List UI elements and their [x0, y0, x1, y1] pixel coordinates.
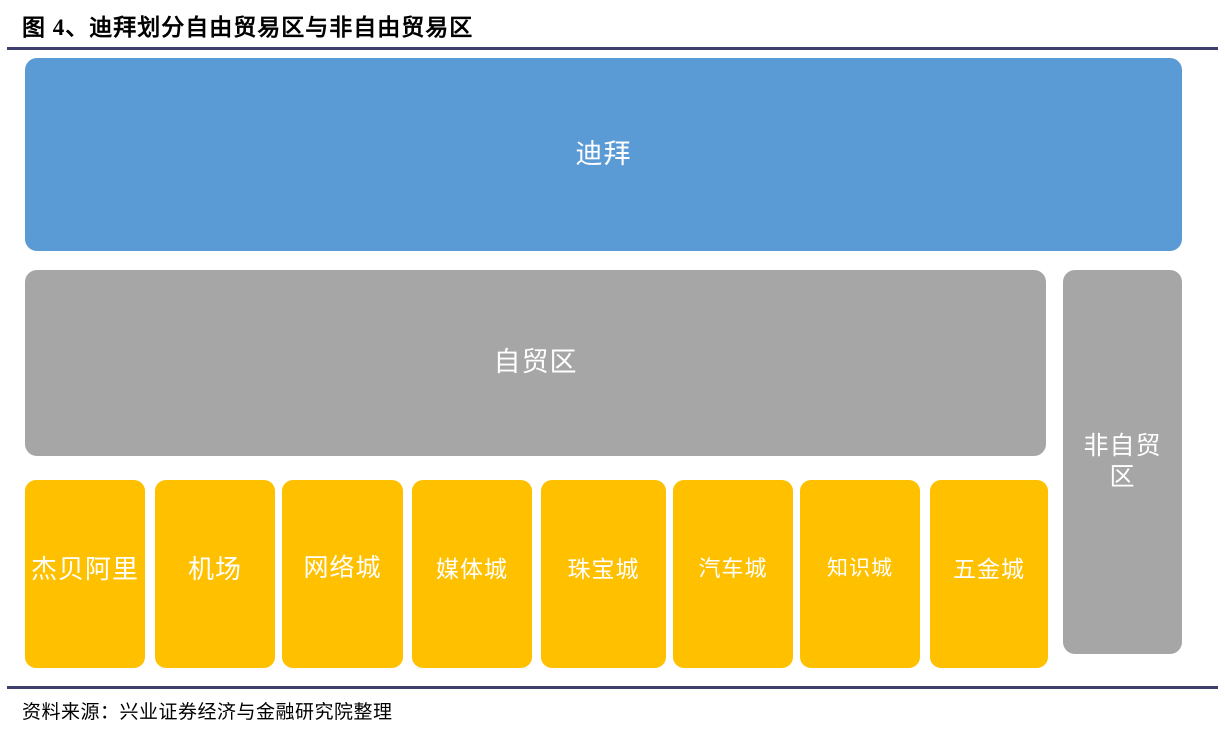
leaf-node-label: 汽车城 — [679, 555, 787, 583]
leaf-node-label: 珠宝城 — [547, 555, 660, 584]
node-non-free-trade-zone-label: 非自贸区 — [1079, 431, 1166, 494]
node-dubai-label: 迪拜 — [576, 138, 632, 172]
leaf-node-label: 杰贝阿里 — [31, 553, 139, 586]
hierarchy-diagram: 迪拜 自贸区 非自贸区 杰贝阿里 机场 网络城 媒体城 珠宝城 汽车城 知识城 … — [0, 0, 1225, 733]
leaf-node-label: 五金城 — [936, 555, 1042, 584]
leaf-node-label: 机场 — [161, 553, 269, 586]
node-non-free-trade-zone: 非自贸区 — [1063, 270, 1182, 654]
node-free-trade-zone: 自贸区 — [25, 270, 1046, 456]
leaf-node-knowledge-village: 知识城 — [800, 480, 920, 668]
leaf-node-metals-commodities-centre: 五金城 — [930, 480, 1048, 668]
node-free-trade-zone-label: 自贸区 — [494, 346, 578, 380]
leaf-node-gold-jewellery-park: 珠宝城 — [541, 480, 666, 668]
leaf-node-label: 媒体城 — [418, 555, 526, 584]
leaf-node-media-city: 媒体城 — [412, 480, 532, 668]
leaf-node-internet-city: 网络城 — [282, 480, 403, 668]
leaf-node-label: 网络城 — [288, 553, 397, 584]
source-divider-bottom — [7, 686, 1218, 689]
leaf-node-auto-zone: 汽车城 — [673, 480, 793, 668]
node-dubai: 迪拜 — [25, 58, 1182, 251]
leaf-node-label: 知识城 — [806, 556, 914, 582]
leaf-node-airport: 机场 — [155, 480, 275, 668]
leaf-node-jebel-ali: 杰贝阿里 — [25, 480, 145, 668]
source-note: 资料来源：兴业证券经济与金融研究院整理 — [22, 697, 393, 724]
